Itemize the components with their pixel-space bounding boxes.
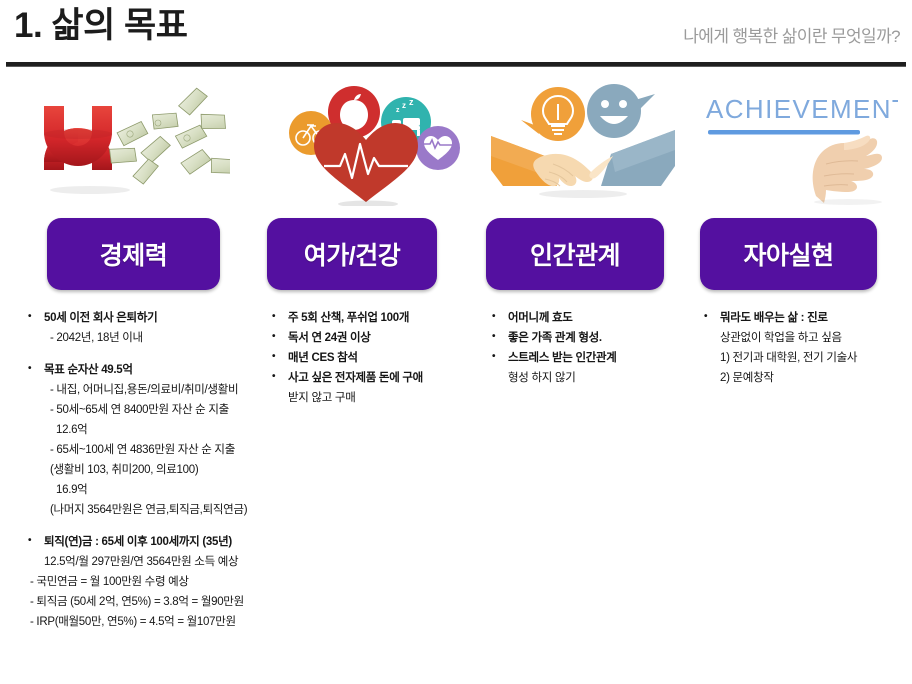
list-item: 12.6억 bbox=[22, 420, 254, 440]
list-item: - 65세~100세 연 4836만원 자산 순 지출 bbox=[22, 440, 254, 460]
hand-writing-achievement-illustration: ACHIEVEMENT bbox=[690, 78, 906, 210]
category-column-economic: 경제력 50세 이전 회사 은퇴하기 - 2042년, 18년 이내 목표 순자… bbox=[6, 78, 254, 632]
list-item: 사고 싶은 전자제품 돈에 구애 bbox=[266, 368, 476, 388]
list-item: - 퇴직금 (50세 2억, 연5%) = 3.8억 = 월90만원 bbox=[22, 592, 254, 612]
smiley-bubble bbox=[587, 84, 655, 138]
list-item: - IRP(매월50만, 연5%) = 4.5억 = 월107만원 bbox=[22, 612, 254, 632]
list-item: 2) 문예창작 bbox=[698, 368, 906, 388]
list-item: 스트레스 받는 인간관계 bbox=[486, 348, 688, 368]
category-column-self-actualization: ACHIEVEMENT 자아실현 뭐라도 배우는 삶 : 진로 상관 bbox=[690, 78, 906, 388]
list-spacer bbox=[22, 348, 254, 360]
list-item: 1) 전기과 대학원, 전기 기술사 bbox=[698, 348, 906, 368]
handshake-svg bbox=[483, 78, 683, 206]
bullet-list-self-actualization: 뭐라도 배우는 삶 : 진로 상관없이 학업을 하고 싶음 1) 전기과 대학원… bbox=[698, 308, 906, 388]
achievement-word-text: ACHIEVEMENT bbox=[706, 94, 898, 124]
category-label-self-actualization[interactable]: 자아실현 bbox=[700, 218, 877, 290]
category-label-economic[interactable]: 경제력 bbox=[47, 218, 220, 290]
list-item: 형성 하지 않기 bbox=[486, 368, 688, 388]
list-spacer bbox=[22, 520, 254, 532]
slide-header: 1. 삶의 목표 나에게 행복한 삶이란 무엇일까? bbox=[0, 0, 912, 68]
list-item: 12.5억/월 297만원/연 3564만원 소득 예상 bbox=[22, 552, 254, 572]
category-label-text: 인간관계 bbox=[530, 236, 620, 272]
list-item: 독서 연 24권 이상 bbox=[266, 328, 476, 348]
list-item: (나머지 3564만원은 연금,퇴직금,퇴직연금) bbox=[22, 500, 254, 520]
page-title: 1. 삶의 목표 bbox=[14, 2, 187, 50]
magnet-money-svg bbox=[30, 78, 230, 206]
svg-text:z: z bbox=[402, 101, 406, 110]
handshake-with-speech-bubbles-illustration bbox=[478, 78, 688, 210]
category-label-relationships[interactable]: 인간관계 bbox=[486, 218, 664, 290]
lightbulb-bubble bbox=[521, 87, 585, 141]
list-item: 어머니께 효도 bbox=[486, 308, 688, 328]
category-label-text: 자아실현 bbox=[743, 236, 833, 272]
list-item: 받지 않고 구매 bbox=[266, 388, 476, 408]
list-item: 주 5회 산책, 푸쉬업 100개 bbox=[266, 308, 476, 328]
category-label-text: 경제력 bbox=[100, 236, 168, 272]
heart-health-svg: z z z bbox=[266, 78, 466, 206]
list-item: 뭐라도 배우는 삶 : 진로 bbox=[698, 308, 906, 328]
list-item: 매년 CES 참석 bbox=[266, 348, 476, 368]
achievement-underline bbox=[708, 130, 860, 135]
list-item: 퇴직(연)금 : 65세 이후 100세까지 (35년) bbox=[22, 532, 254, 552]
list-item: 목표 순자산 49.5억 bbox=[22, 360, 254, 380]
category-column-leisure-health: z z z 여가/건강 주 5회 산책, 푸쉬업 100개 독서 연 24권 이… bbox=[256, 78, 476, 408]
list-item: 좋은 가족 관계 형성. bbox=[486, 328, 688, 348]
list-item: - 국민연금 = 월 100만원 수령 예상 bbox=[22, 572, 254, 592]
list-item: 50세 이전 회사 은퇴하기 bbox=[22, 308, 254, 328]
list-item: (생활비 103, 취미200, 의료100) bbox=[22, 460, 254, 480]
category-label-text: 여가/건강 bbox=[304, 236, 400, 272]
magnet-attracting-money-illustration bbox=[6, 78, 254, 210]
list-item: - 내집, 어머니집,용돈/의료비/취미/생활비 bbox=[22, 380, 254, 400]
svg-text:z: z bbox=[396, 107, 400, 114]
svg-text:z: z bbox=[409, 97, 414, 107]
hand-shape bbox=[813, 136, 882, 203]
category-label-leisure-health[interactable]: 여가/건강 bbox=[267, 218, 437, 290]
list-item: - 50세~65세 연 8400만원 자산 순 지출 bbox=[22, 400, 254, 420]
category-column-relationships: 인간관계 어머니께 효도 좋은 가족 관계 형성. 스트레스 받는 인간관계 형… bbox=[478, 78, 688, 388]
bullet-list-relationships: 어머니께 효도 좋은 가족 관계 형성. 스트레스 받는 인간관계 형성 하지 … bbox=[486, 308, 688, 388]
bullet-list-economic: 50세 이전 회사 은퇴하기 - 2042년, 18년 이내 목표 순자산 49… bbox=[22, 308, 254, 632]
list-item: 상관없이 학업을 하고 싶음 bbox=[698, 328, 906, 348]
header-subtitle: 나에게 행복한 삶이란 무엇일까? bbox=[683, 22, 900, 47]
heart-health-lifestyle-icons-illustration: z z z bbox=[256, 78, 476, 210]
list-item: - 2042년, 18년 이내 bbox=[22, 328, 254, 348]
list-item: 16.9억 bbox=[22, 480, 254, 500]
achievement-svg: ACHIEVEMENT bbox=[698, 78, 898, 206]
header-divider bbox=[6, 62, 906, 67]
bullet-list-leisure-health: 주 5회 산책, 푸쉬업 100개 독서 연 24권 이상 매년 CES 참석 … bbox=[266, 308, 476, 408]
